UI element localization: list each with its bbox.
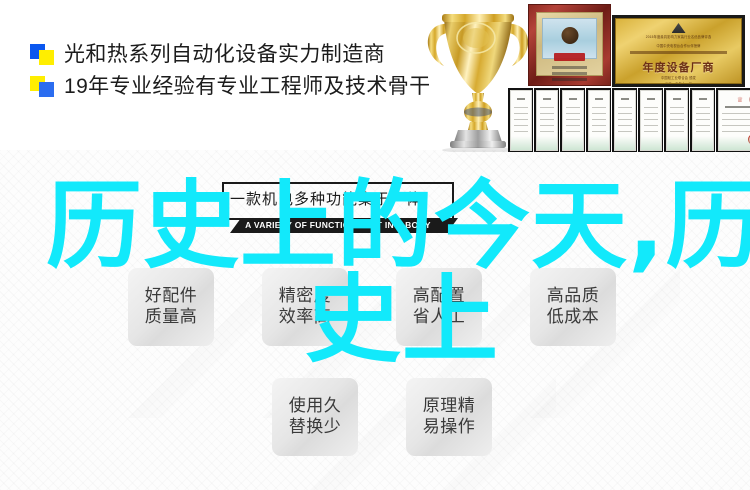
- product-banner: 一款机电多种功能集于一体 A VARIETY OF FUNCTIONS SET …: [222, 182, 454, 238]
- feature-label-line1: 好配件: [145, 286, 198, 307]
- feature-label-line1: 使用久: [289, 396, 342, 417]
- feature-box-shi-yong-jiu[interactable]: 使用久 替换少: [272, 378, 358, 456]
- feature-box-jing-mi-du[interactable]: 精密度 效率高: [262, 268, 348, 346]
- feature-label-line1: 原理精: [423, 396, 476, 417]
- feature-label-line2: 替换少: [289, 417, 342, 438]
- feature-label-line2: 质量高: [145, 307, 198, 328]
- feature-label-line2: 易操作: [423, 417, 476, 438]
- feature-label-line2: 低成本: [547, 307, 600, 328]
- banner-cn-text: 一款机电多种功能集于一体: [230, 188, 446, 209]
- feature-box-yuan-li-jing[interactable]: 原理精 易操作: [406, 378, 492, 456]
- feature-label-line2: 效率高: [279, 307, 332, 328]
- feature-label-line1: 高品质: [547, 286, 600, 307]
- feature-box-hao-pei-jian[interactable]: 好配件 质量高: [128, 268, 214, 346]
- banner-en-text: A VARIETY OF FUNCTIONS SET IN A BODY: [222, 219, 454, 232]
- feature-box-gao-pin-zhi[interactable]: 高品质 低成本: [530, 268, 616, 346]
- feature-box-gao-pei-zhi[interactable]: 高配置 省人工: [396, 268, 482, 346]
- feature-grid: 好配件 质量高 精密度 效率高 高配置 省人工 高品质 低成本 使用久 替换少 …: [0, 0, 750, 490]
- feature-label-line2: 省人工: [413, 307, 466, 328]
- feature-label-line1: 精密度: [279, 286, 332, 307]
- promo-banner-page: 光和热系列自动化设备实力制造商 19年专业经验有专业工程师及技术骨干: [0, 0, 750, 490]
- feature-label-line1: 高配置: [413, 286, 466, 307]
